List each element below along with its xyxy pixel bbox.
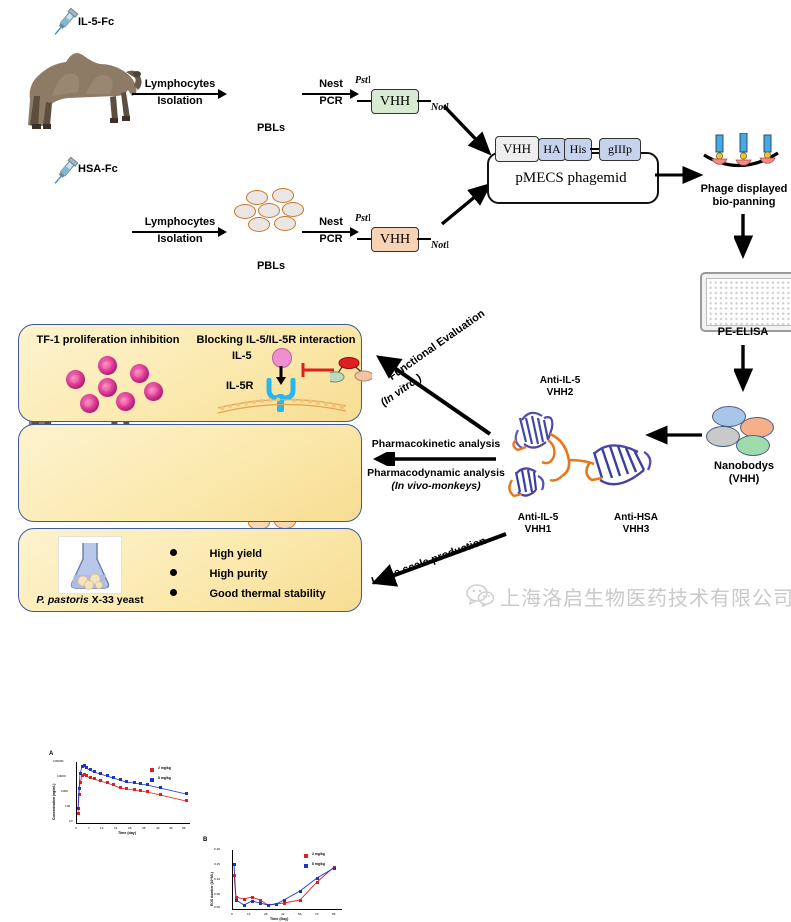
panning-label-line2: bio-panning xyxy=(692,196,791,209)
structure-label-vhh3-l2: VHH3 xyxy=(595,524,677,536)
vhh-gene-box-2: VHH xyxy=(371,227,419,252)
antigen-label-hsa: HSA-Fc xyxy=(78,163,138,176)
pbl-label-2: PBLs xyxy=(232,260,310,273)
production-bullet-label-3: Good thermal stability xyxy=(209,588,325,600)
yeast-flask-image xyxy=(58,536,122,594)
arrow-label-bottom-1: Isolation xyxy=(130,95,230,107)
chart-b-pd: B 0.20 0.15 0.10 0.05 0.00 EOS number (1… xyxy=(200,836,352,922)
arrow-panning-to-elisa xyxy=(734,214,756,266)
syringe-icon-il5 xyxy=(48,6,82,40)
wechat-icon xyxy=(466,583,494,607)
pk-pd-arrow xyxy=(368,452,500,466)
nanobody-blocker-icon xyxy=(330,356,372,386)
watermark-text: 上海洛启生物医药技术有限公司 xyxy=(500,582,791,611)
arrow-label-bottom-2: Isolation xyxy=(130,233,230,245)
pcr-label-bottom-1: PCR xyxy=(300,95,362,107)
il5r-label: IL-5R xyxy=(226,380,254,392)
elisa-plate xyxy=(700,272,791,332)
cassette-seg-giiip: gIIIp xyxy=(599,138,641,161)
il5-ligand-icon xyxy=(272,348,292,368)
bullet-dot-1 xyxy=(170,549,177,556)
panel-title-blocking: Blocking IL-5/IL-5R interaction xyxy=(196,334,356,346)
enzyme-site-not1-right-2: NotI xyxy=(431,240,449,251)
antigen-label-il5: IL-5-Fc xyxy=(78,16,138,29)
pd-label-l1: Pharmacodynamic analysis xyxy=(366,467,506,479)
tf1-cell-cluster xyxy=(52,356,172,416)
protein-structure-render xyxy=(498,400,668,520)
panning-label-line1: Phage displayed xyxy=(692,183,791,196)
membrane-icon xyxy=(216,394,348,416)
yeast-strain-species: P. pastoris xyxy=(36,594,88,606)
pk-label: Pharmacokinetic analysis xyxy=(366,438,506,450)
elisa-label: PE-ELISA xyxy=(698,326,788,339)
yeast-strain-suffix: X-33 yeast xyxy=(89,594,144,606)
arrow-label-top-1: Lymphocytes xyxy=(130,78,230,90)
cassette-seg-ha: HA xyxy=(538,138,566,161)
enzyme-site-pst1-left-2: PstI xyxy=(355,213,371,224)
pbl-cluster-1 xyxy=(232,188,310,238)
nest-pcr-arrow-1: Nest PCR xyxy=(300,78,362,110)
lymphocyte-isolation-arrow-2: Lymphocytes Isolation xyxy=(130,216,230,248)
arrow-elisa-to-nanobodies xyxy=(734,345,756,399)
pd-label-l2: (In vivo-monkeys) xyxy=(366,480,506,492)
enzyme-site-pst1-left: PstI xyxy=(355,75,371,86)
syringe-icon-hsa xyxy=(48,155,82,189)
bullet-dot-2 xyxy=(170,569,177,576)
nanobody-label-line2: (VHH) xyxy=(696,473,791,486)
chart-a-pk: A 100000 10000 1000 100 10 Concentration… xyxy=(46,750,198,836)
nest-pcr-arrow-2: Nest PCR xyxy=(300,216,362,248)
structure-label-vhh2-l2: VHH2 xyxy=(515,387,605,399)
pbl-label-1: PBLs xyxy=(232,122,310,135)
il5-label: IL-5 xyxy=(232,350,252,362)
phagemid-cassette: VHH HA His gIIIp xyxy=(495,135,655,161)
cassette-seg-vhh: VHH xyxy=(495,136,539,162)
vhh-gene-box-1: VHH xyxy=(371,89,419,114)
production-bullet-1: High yield xyxy=(170,544,262,562)
panel-title-tf1: TF-1 proliferation inhibition xyxy=(28,334,188,346)
production-bullet-3: Good thermal stability xyxy=(170,584,326,602)
yeast-strain-label: P. pastoris X-33 yeast xyxy=(30,594,150,606)
phagemid-name: pMECS phagemid xyxy=(487,170,655,187)
nanobody-cluster xyxy=(706,406,782,452)
arrow-label-top-2: Lymphocytes xyxy=(130,216,230,228)
cassette-seg-his: His xyxy=(564,138,592,161)
nanobody-oval-3 xyxy=(706,426,740,447)
structure-label-vhh1-l1: Anti-IL-5 xyxy=(498,512,578,524)
structure-label-vhh2-l1: Anti-IL-5 xyxy=(515,375,605,387)
production-bullet-label-2: High purity xyxy=(209,568,267,580)
lymphocyte-isolation-arrow-1: Lymphocytes Isolation xyxy=(130,78,230,110)
structure-label-vhh3-l1: Anti-HSA xyxy=(595,512,677,524)
bullet-dot-3 xyxy=(170,589,177,596)
pcr-label-bottom-2: PCR xyxy=(300,233,362,245)
panel-pkpd xyxy=(18,424,362,522)
production-bullet-label-1: High yield xyxy=(209,548,262,560)
production-bullet-2: High purity xyxy=(170,564,268,582)
phage-display-illustration xyxy=(700,133,791,175)
nanobody-label-line1: Nanobodys xyxy=(696,460,791,473)
nanobody-oval-4 xyxy=(736,435,770,456)
